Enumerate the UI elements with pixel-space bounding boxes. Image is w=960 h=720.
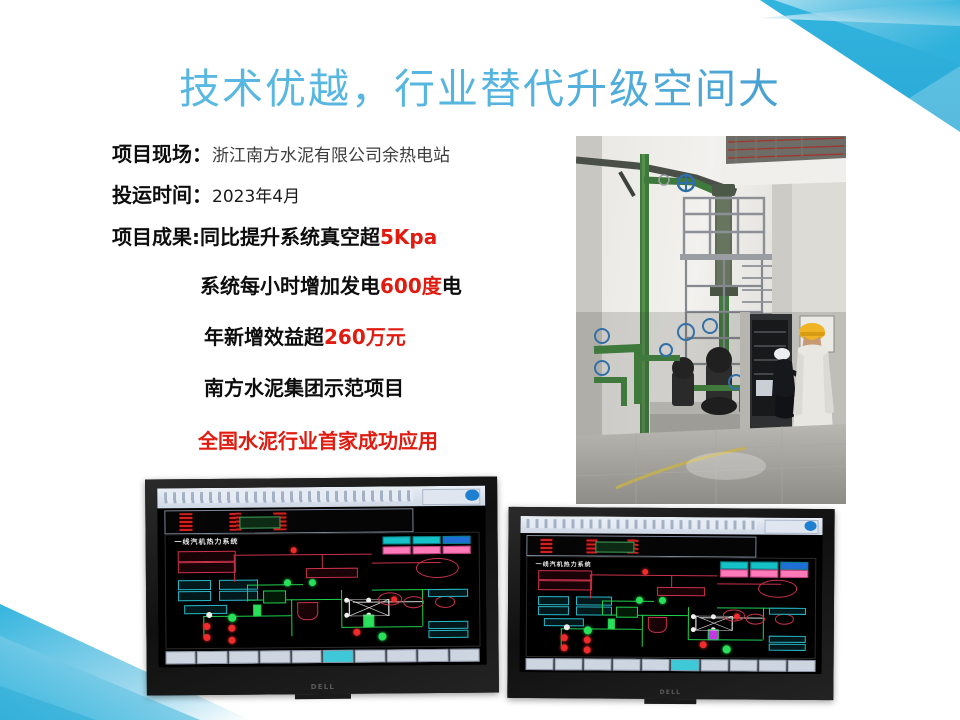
detail-row-result: 项目成果: 同比提升系统真空超 5Kpa: [112, 221, 582, 250]
scada-legend: [382, 536, 470, 545]
scada-legend: [720, 561, 808, 570]
scada-tab[interactable]: [613, 659, 641, 671]
bullet-item-2: 南方水泥集团示范项目: [112, 372, 582, 401]
bullet-prefix: 年新增效益超: [204, 325, 324, 349]
monitor-1: 一线汽机热力系统: [145, 476, 499, 695]
result-highlight: 5Kpa: [380, 225, 437, 249]
detail-row-site: 项目现场： 浙江南方水泥有限公司余热电站: [112, 138, 582, 167]
scada-tab-bar[interactable]: [165, 648, 480, 664]
generator-icon: [758, 580, 798, 598]
scada-tab[interactable]: [525, 658, 553, 670]
scada-tab[interactable]: [758, 660, 786, 672]
plant-photo-illustration: [576, 136, 846, 504]
scada-mimic-area: 一线汽机热力系统: [164, 531, 480, 649]
scada-tab[interactable]: [729, 660, 757, 672]
monitor-screen: 一线汽机热力系统: [519, 516, 823, 675]
scada-title: 一线汽机热力系统: [536, 559, 592, 568]
scada-tab[interactable]: [642, 659, 670, 671]
date-value: 2023年4月: [212, 182, 300, 207]
toolbar-icons[interactable]: [526, 519, 756, 530]
scada-tab-active[interactable]: [323, 650, 354, 664]
monitor-stand: [644, 699, 696, 704]
result-prefix: 同比提升系统真空超: [200, 221, 380, 250]
scada-tab-bar[interactable]: [525, 658, 816, 672]
bullet-suffix: 电: [442, 274, 462, 298]
detail-row-date: 投运时间： 2023年4月: [112, 179, 582, 208]
bullet-prefix: 系统每小时增加发电: [200, 274, 380, 298]
toolbar-icons[interactable]: [164, 490, 413, 503]
scada-alarm-band: [526, 535, 756, 557]
scada-tab[interactable]: [355, 649, 386, 663]
bullet-prefix: 南方水泥集团示范项目: [204, 376, 404, 400]
result-label: 项目成果:: [112, 221, 200, 250]
scada-tab[interactable]: [449, 648, 480, 662]
site-value: 浙江南方水泥有限公司余热电站: [212, 141, 450, 166]
scada-tab[interactable]: [291, 650, 322, 664]
bullet-prefix: 全国水泥行业首家成功应用: [198, 429, 438, 453]
plant-photo: [576, 136, 846, 504]
scada-tab[interactable]: [228, 650, 259, 664]
bullet-highlight: 600度: [380, 274, 442, 298]
scada-tab[interactable]: [260, 650, 291, 664]
scada-tab[interactable]: [197, 651, 228, 665]
bullet-item-1: 年新增效益超260万元: [112, 321, 582, 350]
generator-icon: [416, 557, 459, 578]
slide-canvas: 技术优越，行业替代升级空间大 项目现场： 浙江南方水泥有限公司余热电站 投运时间…: [0, 0, 960, 720]
scada-diagram: 一线汽机热力系统: [157, 486, 487, 668]
page-title: 技术优越，行业替代升级空间大: [0, 62, 960, 116]
scada-tab[interactable]: [584, 659, 612, 671]
scada-tab[interactable]: [418, 649, 449, 663]
scada-tab[interactable]: [700, 659, 728, 671]
scada-diagram: 一线汽机热力系统: [519, 516, 823, 675]
scada-tab-active[interactable]: [671, 659, 699, 671]
scada-toolbar[interactable]: [520, 516, 823, 535]
monitor-2: 一线汽机热力系统: [507, 507, 834, 700]
scada-tab[interactable]: [554, 658, 582, 670]
scada-tab[interactable]: [386, 649, 417, 663]
site-label: 项目现场：: [112, 138, 212, 167]
scada-title: 一线汽机热力系统: [174, 537, 238, 548]
bullet-item-0: 系统每小时增加发电600度电: [112, 270, 582, 299]
scada-mimic-area: 一线汽机热力系统: [525, 556, 816, 659]
scada-toolbar[interactable]: [157, 486, 485, 509]
scada-tab[interactable]: [165, 651, 196, 665]
bullet-item-3: 全国水泥行业首家成功应用: [112, 425, 582, 454]
scada-tab[interactable]: [788, 660, 816, 672]
details-block: 项目现场： 浙江南方水泥有限公司余热电站 投运时间： 2023年4月 项目成果:…: [112, 138, 582, 454]
monitor-screen: 一线汽机热力系统: [157, 486, 487, 668]
scada-alarm-band: [164, 509, 414, 535]
date-label: 投运时间：: [112, 179, 212, 208]
monitor-stand: [295, 694, 351, 699]
bullet-highlight: 260万元: [324, 325, 406, 349]
help-icon[interactable]: [466, 490, 479, 502]
